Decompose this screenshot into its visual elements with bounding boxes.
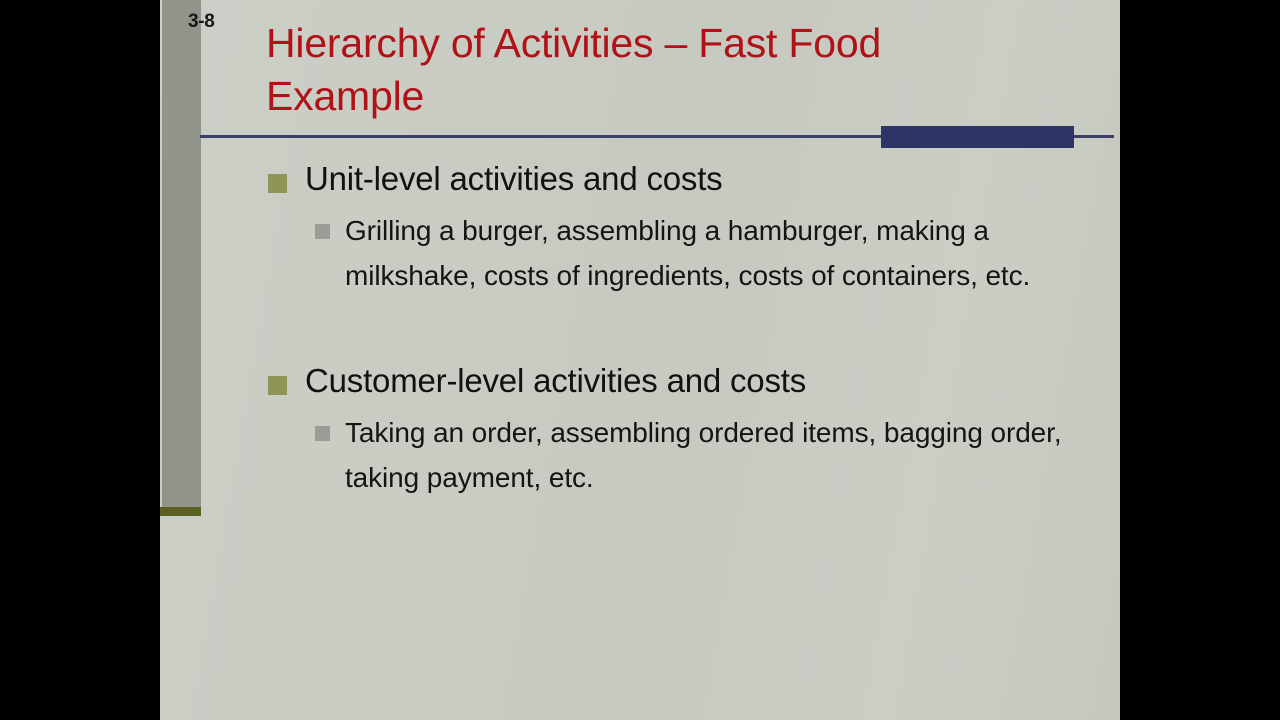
spacer (160, 200, 1120, 208)
slide-title: Hierarchy of Activities – Fast Food Exam… (266, 17, 996, 123)
slide-body: Unit-level activities and costs Grilling… (160, 158, 1120, 500)
bullet-level2: Taking an order, assembling ordered item… (160, 410, 1120, 500)
left-decorative-bar-foot (160, 507, 201, 516)
slide-number: 3-8 (188, 11, 215, 33)
square-subbullet-icon (315, 224, 330, 239)
square-subbullet-icon (315, 426, 330, 441)
bullet-level1-label: Customer-level activities and costs (305, 360, 1120, 402)
spacer (160, 402, 1120, 410)
title-accent-block (881, 126, 1074, 148)
bullet-level1-label: Unit-level activities and costs (305, 158, 1120, 200)
presentation-slide: 3-8 Hierarchy of Activities – Fast Food … (160, 0, 1120, 720)
bullet-level1: Unit-level activities and costs (160, 158, 1120, 200)
bullet-level1: Customer-level activities and costs (160, 360, 1120, 402)
bullet-level2: Grilling a burger, assembling a hamburge… (160, 208, 1120, 298)
square-bullet-icon (268, 376, 287, 395)
bullet-level2-label: Grilling a burger, assembling a hamburge… (345, 208, 1070, 298)
letterbox-viewport: 3-8 Hierarchy of Activities – Fast Food … (0, 0, 1280, 720)
square-bullet-icon (268, 174, 287, 193)
spacer (160, 298, 1120, 360)
bullet-level2-label: Taking an order, assembling ordered item… (345, 410, 1070, 500)
